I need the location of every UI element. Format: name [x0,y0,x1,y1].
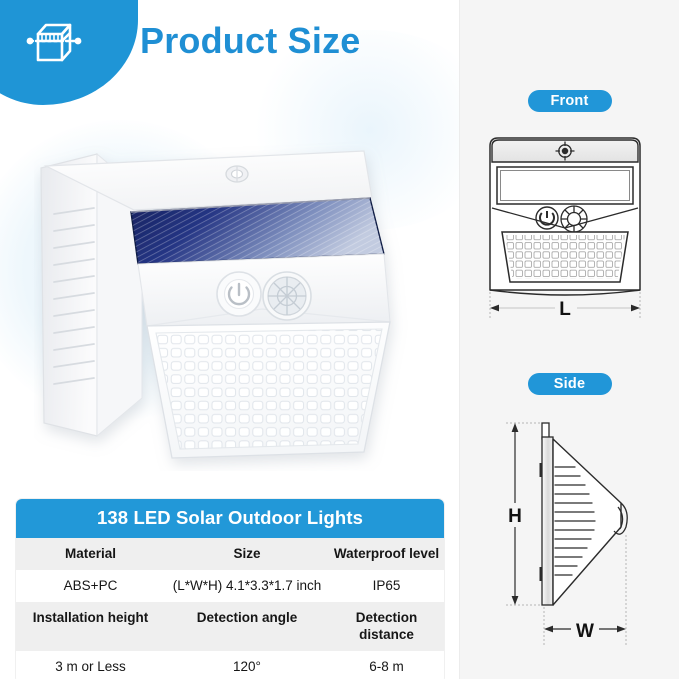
table-cell: IP65 [329,570,444,602]
table-row: 3 m or Less 120° 6-8 m [16,651,444,679]
page-title: Product Size [140,20,360,62]
dimension-label-H: H [508,506,522,527]
right-panel: Front [460,0,679,679]
side-view-block: Side [460,373,679,657]
dimension-line-W: W [544,617,626,642]
side-view-badge: Side [528,373,612,395]
table-header-cell: Detection angle [165,602,329,650]
product-size-infographic: Product Size [0,0,679,679]
side-view-drawing: H W [470,407,670,657]
front-view-block: Front [460,90,679,322]
dimension-line-H: H [504,423,526,605]
header: Product Size [0,0,430,100]
spec-table-title: 138 LED Solar Outdoor Lights [16,499,444,538]
table-cell: 3 m or Less [16,651,165,679]
table-header-cell: Detection distance [329,602,444,650]
table-cell: ABS+PC [16,570,165,602]
box-measure-icon [22,14,86,78]
power-button [217,272,261,316]
table-header-cell: Material [16,538,165,570]
front-view-drawing: L [470,122,670,322]
table-row: Installation height Detection angle Dete… [16,602,444,650]
table-row: Material Size Waterproof level [16,538,444,570]
mount-screw [226,166,248,182]
dimension-label-W: W [576,621,594,642]
table-header-cell: Size [165,538,329,570]
dimension-label-L: L [559,299,571,320]
spec-table: 138 LED Solar Outdoor Lights Material Si… [16,499,444,679]
table-cell: 120° [165,651,329,679]
table-header-cell: Waterproof level [329,538,444,570]
table-header-cell: Installation height [16,602,165,650]
product-image [34,136,434,471]
motion-sensor [263,272,311,320]
table-cell: 6-8 m [329,651,444,679]
table-row: ABS+PC (L*W*H) 4.1*3.3*1.7 inch IP65 [16,570,444,602]
front-view-badge: Front [528,90,612,112]
left-panel: Product Size [0,0,460,679]
dimension-line-L: L [490,298,640,320]
table-cell: (L*W*H) 4.1*3.3*1.7 inch [165,570,329,602]
